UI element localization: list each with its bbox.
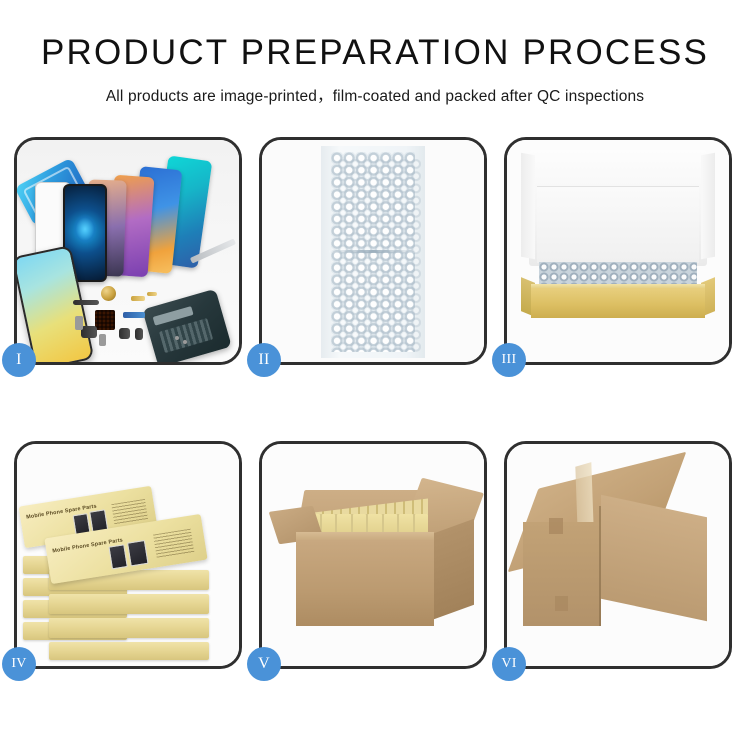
- speaker-part: [101, 286, 116, 301]
- stacked-box: [49, 642, 209, 660]
- sim-tray-part: [99, 334, 106, 346]
- step-badge-5: V: [247, 647, 281, 681]
- battery-connector-part: [135, 328, 143, 340]
- vibrator-part: [119, 328, 130, 339]
- box-spec-lines: [111, 499, 148, 526]
- step-badge-4: IV: [2, 647, 36, 681]
- spare-parts-group: [79, 284, 199, 356]
- sleeve-seam: [329, 250, 417, 253]
- blue-flex-part: [123, 312, 145, 318]
- carton-edge-seam: [599, 506, 601, 626]
- stacked-box: [49, 594, 209, 614]
- box-spec-lines: [153, 529, 194, 559]
- step-panel-5[interactable]: V: [259, 441, 487, 669]
- step-badge-2: II: [247, 343, 281, 377]
- process-steps-grid: I II III: [14, 137, 736, 669]
- gold-bracket-part: [147, 292, 157, 296]
- step-image-4: Mobile Phone Spare Parts Mobile Phone Sp…: [17, 444, 239, 666]
- ic-chip-part: [95, 310, 115, 330]
- stacked-box: [49, 618, 209, 638]
- step-image-3: [507, 140, 729, 362]
- carton-front-face: [296, 540, 434, 626]
- step-panel-3[interactable]: III: [504, 137, 732, 365]
- bubble-pattern-back: [337, 158, 421, 354]
- box-phone-image: [108, 544, 127, 569]
- bubble-wrap-sleeve: [321, 146, 425, 358]
- gold-connector-part: [131, 296, 145, 301]
- page-subtitle: All products are image-printed，film-coat…: [0, 84, 750, 106]
- box-front-face: [531, 288, 705, 318]
- carton-corner-mark: [555, 596, 568, 611]
- metal-bracket-part: [75, 316, 83, 330]
- step-image-1: [17, 140, 239, 362]
- foam-insert: [537, 186, 699, 263]
- step-image-2: [262, 140, 484, 362]
- step-badge-1: I: [2, 343, 36, 377]
- flex-cable-part: [73, 300, 99, 305]
- step-panel-1[interactable]: I: [14, 137, 242, 365]
- screw-part: [175, 336, 179, 340]
- step-panel-2[interactable]: II: [259, 137, 487, 365]
- screw-part: [183, 340, 187, 344]
- box-phone-image: [127, 540, 149, 567]
- step-panel-6[interactable]: VI: [504, 441, 732, 669]
- step-image-5: [262, 444, 484, 666]
- step-panel-4[interactable]: Mobile Phone Spare Parts Mobile Phone Sp…: [14, 441, 242, 669]
- camera-module-part: [81, 326, 97, 338]
- step-badge-6: VI: [492, 647, 526, 681]
- retail-box-stack: Mobile Phone Spare Parts Mobile Phone Sp…: [19, 460, 239, 656]
- carton-right-face: [434, 519, 474, 620]
- step-badge-3: III: [492, 343, 526, 377]
- carton-right-face: [601, 495, 707, 622]
- carton-hand-hole: [549, 518, 563, 534]
- step-image-6: [507, 444, 729, 666]
- page-header: PRODUCT PREPARATION PROCESS All products…: [0, 0, 750, 106]
- phone-screen-fan: [57, 156, 237, 281]
- page-title: PRODUCT PREPARATION PROCESS: [0, 34, 750, 73]
